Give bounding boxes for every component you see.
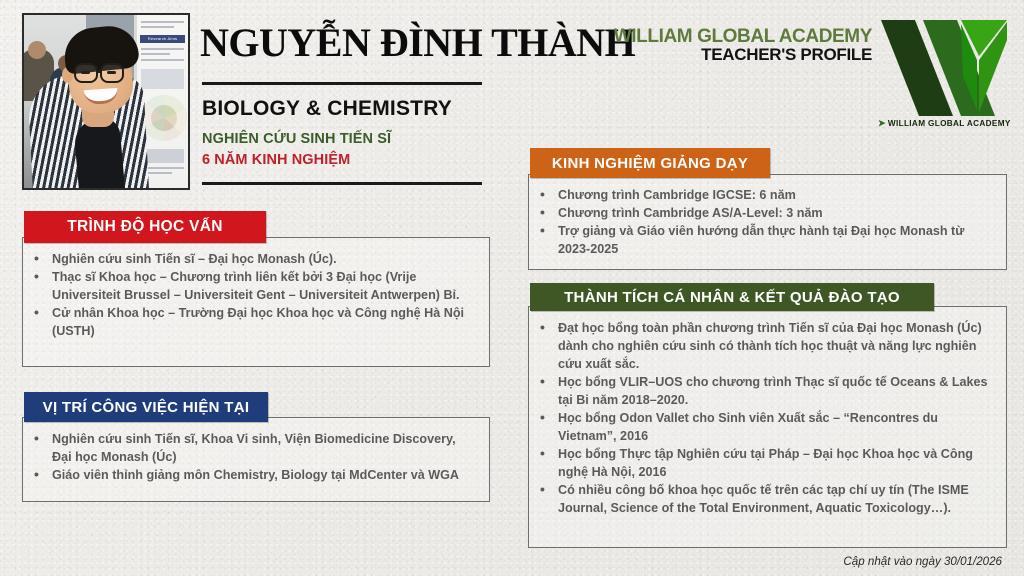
section-header-education: TRÌNH ĐỘ HỌC VẤN — [24, 211, 266, 243]
logo-caption-text: WILLIAM GLOBAL ACADEMY — [888, 119, 1011, 128]
brand-subtitle: TEACHER'S PROFILE — [701, 45, 872, 65]
section-panel-current-position — [22, 417, 490, 502]
section-panel-teaching-experience — [528, 174, 1007, 270]
page-title: NGUYỄN ĐÌNH THÀNH — [200, 22, 620, 64]
last-updated-note: Cập nhật vào ngày 30/01/2026 — [843, 555, 1002, 568]
poster-band-label: Research Aims — [140, 35, 185, 43]
background-person-1-head — [28, 41, 46, 59]
subject-eye-right — [107, 71, 116, 74]
section-panel-education — [22, 237, 490, 367]
title-divider-top — [202, 82, 482, 85]
glasses-bridge — [97, 70, 102, 73]
wga-logo-svg — [875, 16, 1010, 120]
slide-canvas: Research Aims NGUYỄN Đ — [0, 0, 1024, 576]
teacher-photo: Research Aims — [22, 13, 190, 190]
experience-label: 6 NĂM KINH NGHIỆM — [202, 152, 350, 168]
title-divider-bottom — [202, 182, 482, 185]
degree-label: NGHIÊN CỨU SINH TIẾN SĨ — [202, 131, 391, 147]
section-header-teaching-experience: KINH NGHIỆM GIẢNG DẠY — [530, 148, 770, 178]
section-panel-achievements — [528, 306, 1007, 548]
logo-caption: ➤WILLIAM GLOBAL ACADEMY — [878, 118, 1010, 129]
section-header-current-position: VỊ TRÍ CÔNG VIỆC HIỆN TẠI — [24, 392, 268, 422]
subject-heading: BIOLOGY & CHEMISTRY — [202, 97, 452, 121]
logo-arrow-icon: ➤ — [878, 118, 886, 128]
section-header-achievements: THÀNH TÍCH CÁ NHÂN & KẾT QUẢ ĐÀO TẠO — [530, 283, 934, 311]
subject-eye-left — [81, 71, 90, 74]
photo-content: Research Aims — [24, 15, 188, 188]
